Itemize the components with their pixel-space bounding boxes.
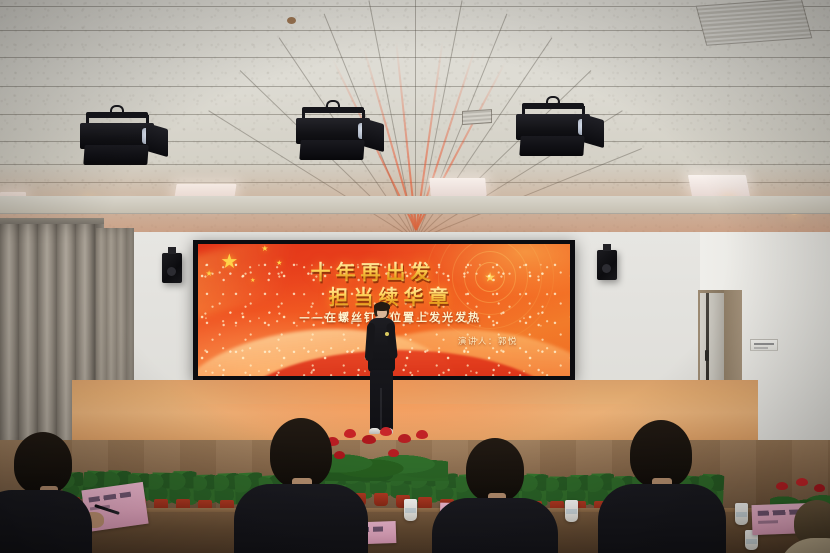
wall-speaker-right <box>597 250 617 280</box>
ac-vent <box>696 0 813 46</box>
red-bloom <box>362 435 376 444</box>
red-bloom <box>398 434 411 443</box>
judge-body <box>0 490 92 553</box>
presenter-hair <box>374 302 390 311</box>
conference-hall-photo: ★ ★ ★ ★ ★ ★ 十年再出发 担当续华章 ——在螺丝钉的位置上发光发热 <box>0 0 830 553</box>
red-bloom <box>814 484 825 492</box>
potted-plant <box>220 473 234 513</box>
judge-head <box>14 432 72 494</box>
judge-body <box>598 484 726 553</box>
judge-body <box>432 498 558 553</box>
presenter-leg-split <box>380 388 382 430</box>
plaque-text-line <box>754 347 768 349</box>
potted-plant <box>198 473 212 513</box>
smoke-detector <box>287 17 296 24</box>
spotlight-yoke <box>302 107 364 113</box>
red-bloom <box>796 478 808 486</box>
potted-plant <box>154 472 168 512</box>
red-bloom <box>416 430 428 439</box>
door-handle[interactable] <box>705 350 709 361</box>
red-bloom <box>344 429 356 438</box>
screen-presenter-label: 演讲人：郭悦 <box>458 335 518 347</box>
ceiling-speaker-grille <box>462 109 492 125</box>
flower-foliage <box>318 439 448 481</box>
presenter-badge <box>385 332 389 336</box>
red-bloom <box>380 427 392 436</box>
spotlight-yoke <box>522 103 584 109</box>
potted-plant <box>176 472 190 512</box>
ceiling-bulkhead <box>0 196 830 214</box>
speech-contestant <box>363 302 399 442</box>
red-bloom <box>388 449 399 457</box>
red-bloom <box>334 451 345 459</box>
paper-cup[interactable] <box>735 503 748 525</box>
room-plaque <box>750 339 778 351</box>
paper-cup[interactable] <box>404 499 417 521</box>
spotlight-barn-door <box>362 118 384 152</box>
wall-speaker-left <box>162 253 182 283</box>
plant-pot <box>374 493 388 506</box>
speaker-bracket <box>168 247 176 254</box>
speaker-bracket <box>603 244 611 251</box>
spotlight-barn-door <box>582 114 604 148</box>
spotlight-barn-door <box>519 136 584 156</box>
paper-cup[interactable] <box>565 500 578 522</box>
red-bloom <box>776 482 788 490</box>
spotlight-yoke <box>86 112 148 118</box>
spotlight-barn-door <box>146 123 168 157</box>
spotlight-barn-door <box>299 140 364 160</box>
judge-body <box>234 484 368 553</box>
plaque-text-line <box>754 343 774 345</box>
anthurium-flower-cluster <box>318 425 448 481</box>
